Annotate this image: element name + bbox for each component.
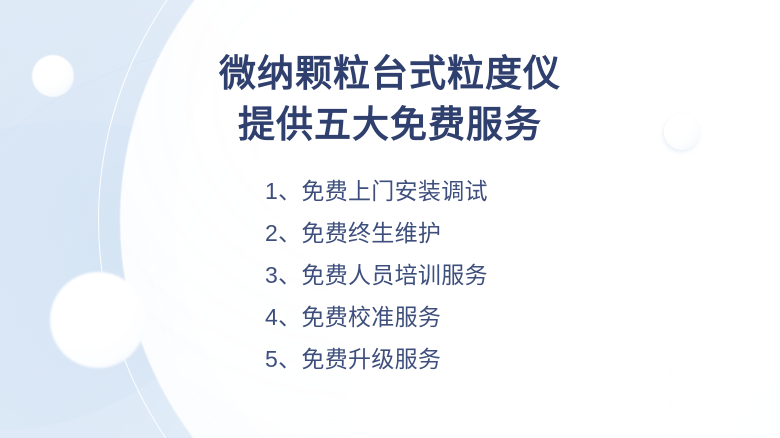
- list-item: 4、免费校准服务: [265, 296, 488, 338]
- page-title: 微纳颗粒台式粒度仪 提供五大免费服务: [0, 48, 780, 150]
- list-item: 3、免费人员培训服务: [265, 254, 488, 296]
- service-list: 1、免费上门安装调试 2、免费终生维护 3、免费人员培训服务 4、免费校准服务 …: [265, 170, 488, 380]
- title-line-2: 提供五大免费服务: [0, 99, 780, 150]
- list-item: 5、免费升级服务: [265, 338, 488, 380]
- title-line-1: 微纳颗粒台式粒度仪: [0, 48, 780, 99]
- content-layer: 微纳颗粒台式粒度仪 提供五大免费服务 1、免费上门安装调试 2、免费终生维护 3…: [0, 0, 780, 438]
- list-item: 2、免费终生维护: [265, 212, 488, 254]
- list-item: 1、免费上门安装调试: [265, 170, 488, 212]
- slide-canvas: 微纳颗粒台式粒度仪 提供五大免费服务 1、免费上门安装调试 2、免费终生维护 3…: [0, 0, 780, 438]
